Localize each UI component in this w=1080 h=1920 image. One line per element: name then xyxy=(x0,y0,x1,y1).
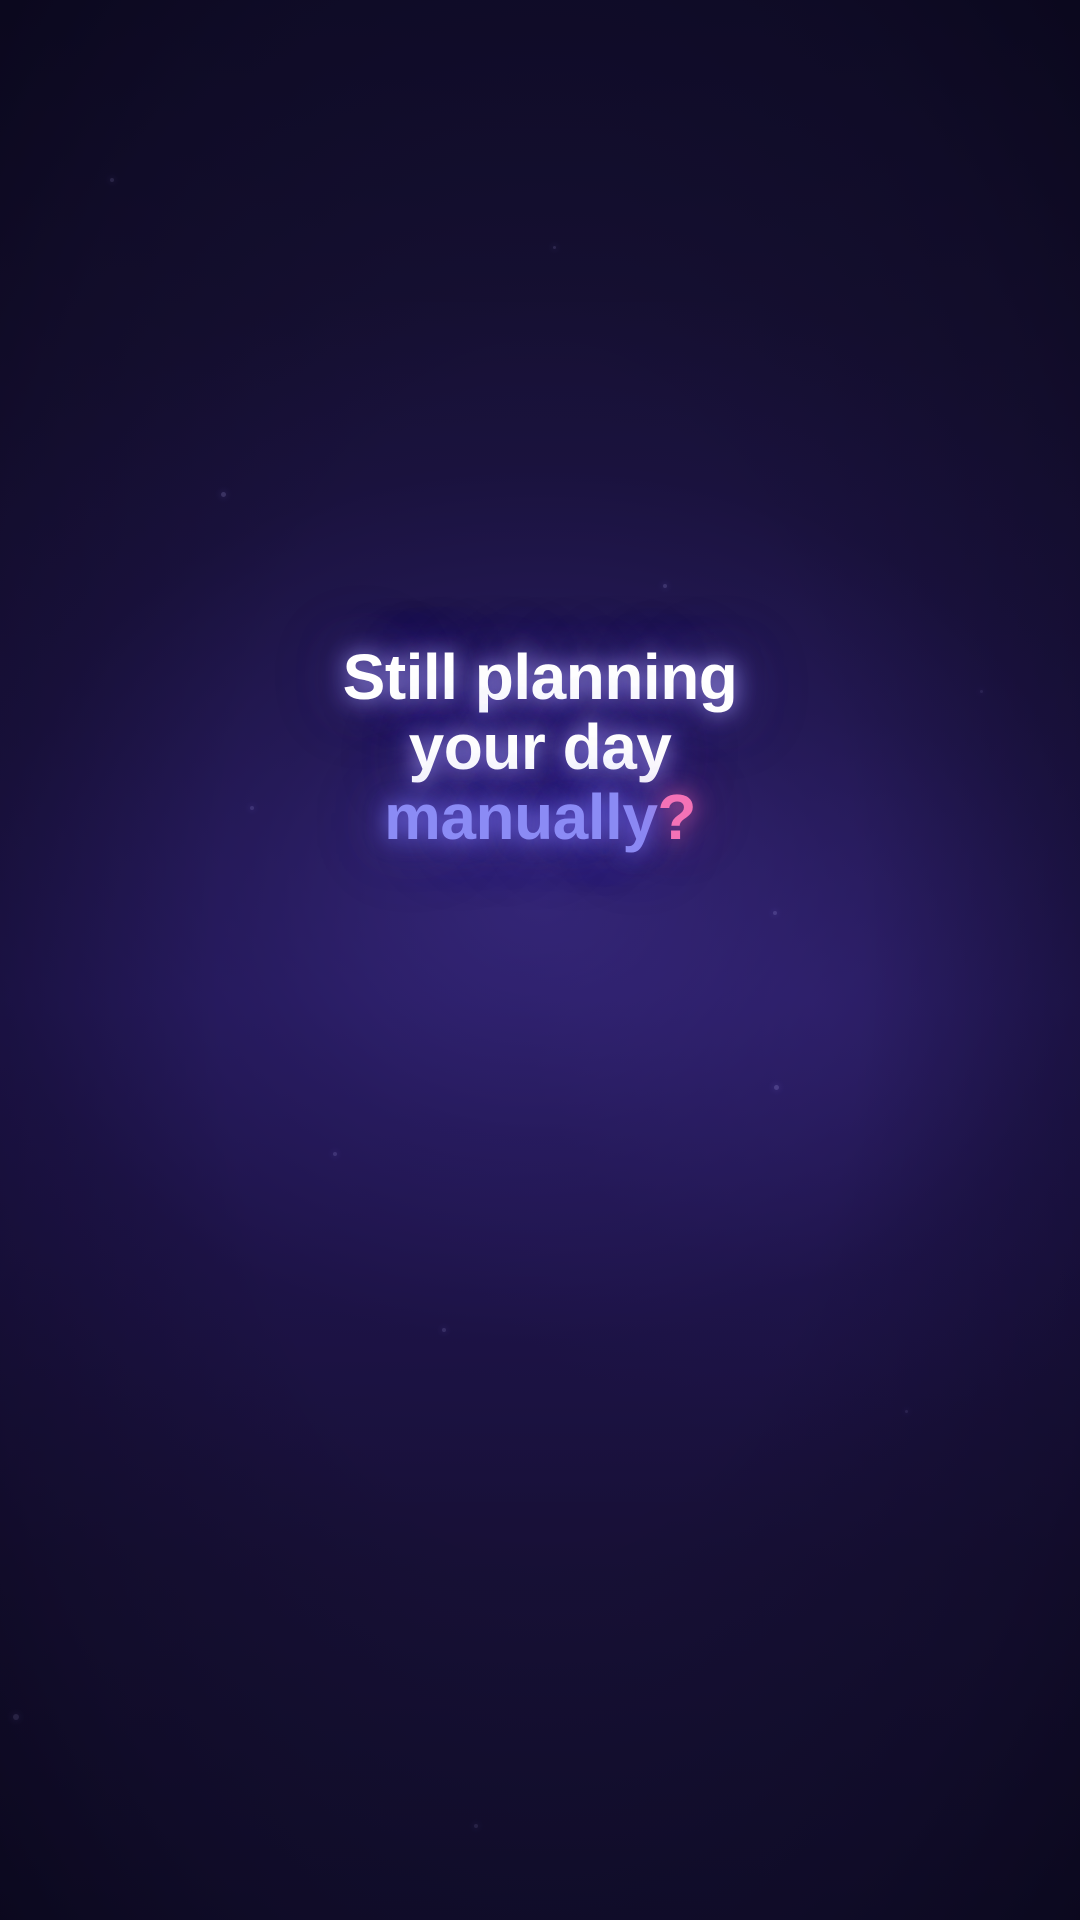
headline: Still planning your day manually? xyxy=(283,643,798,852)
headline-line-3: manually? xyxy=(343,783,738,853)
headline-line-1: Still planning xyxy=(343,643,738,713)
headline-line-2: your day xyxy=(343,713,738,783)
story-slide: Still planning your day manually? xyxy=(0,0,1080,1920)
headline-accent-word: manually xyxy=(384,781,657,853)
headline-question-mark: ? xyxy=(657,781,696,853)
headline-container: Still planning your day manually? xyxy=(0,0,1080,1920)
